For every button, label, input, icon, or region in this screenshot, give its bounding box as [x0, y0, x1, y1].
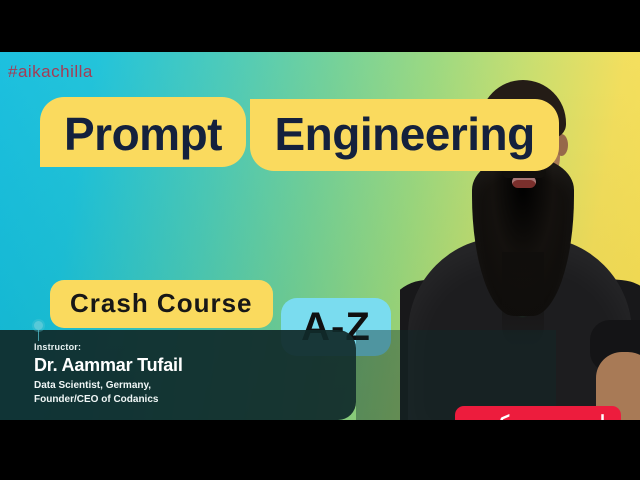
thumbnail-stage: Prompt Engineering Crash Course A-Z Inst… [0, 52, 640, 420]
instructor-role-line-2: Founder/CEO of Codanics [34, 393, 356, 407]
instructor-role-line-1: Data Scientist, Germany, [34, 379, 356, 393]
hashtag-watermark: #aikachilla [8, 62, 93, 82]
instructor-name: Dr. Aammar Tufail [34, 355, 356, 376]
thumbnail-frame: Prompt Engineering Crash Course A-Z Inst… [0, 0, 640, 480]
instructor-label: Instructor: [34, 342, 356, 352]
letterbox-bar-bottom [0, 420, 640, 480]
letterbox-bar-top [0, 0, 640, 52]
headline-line-1: Prompt [40, 97, 246, 167]
subtitle-pill: Crash Course [50, 280, 273, 328]
headline-block: Prompt Engineering [40, 97, 559, 171]
headline-line-2: Engineering [250, 99, 558, 171]
pin-icon [34, 321, 43, 330]
instructor-panel: Instructor: Dr. Aammar Tufail Data Scien… [0, 330, 356, 420]
urdu-language-badge: اردو میں سیکھیں [455, 406, 621, 420]
